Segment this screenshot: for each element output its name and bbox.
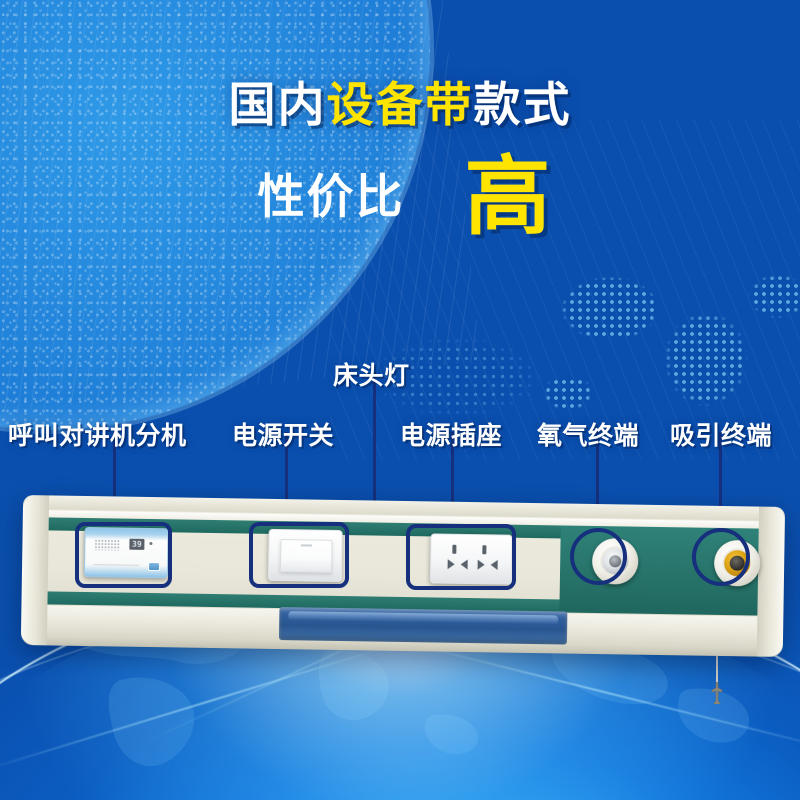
highlight-box-nurse-call-intercom — [75, 522, 172, 588]
callout-label-power-switch: 电源开关 — [232, 416, 334, 452]
panel-end-cap-left — [21, 495, 49, 645]
highlight-box-power-socket — [406, 524, 516, 590]
highlight-box-power-switch — [249, 522, 349, 588]
product-banner-stage: 国内设备带款式 性价比 高 呼叫对讲机分机 床头灯 电源开关 电源插座 氧气终端… — [0, 0, 800, 800]
bedside-lamp-diffuser[interactable] — [279, 607, 567, 645]
callout-label-group: 呼叫对讲机分机 床头灯 电源开关 电源插座 氧气终端 吸引终端 — [0, 0, 800, 800]
callout-label-oxygen-terminal: 氧气终端 — [537, 416, 639, 452]
callout-label-suction-terminal: 吸引终端 — [670, 416, 772, 452]
panel-end-cap-right — [757, 507, 785, 657]
callout-label-nurse-call-intercom: 呼叫对讲机分机 — [8, 416, 187, 452]
highlight-circle-suction-terminal — [692, 528, 750, 586]
highlight-circle-oxygen-terminal — [570, 528, 627, 585]
callout-label-power-socket: 电源插座 — [400, 416, 502, 452]
cross-weight-icon — [708, 682, 726, 704]
callout-label-bedside-lamp: 床头灯 — [333, 356, 410, 392]
